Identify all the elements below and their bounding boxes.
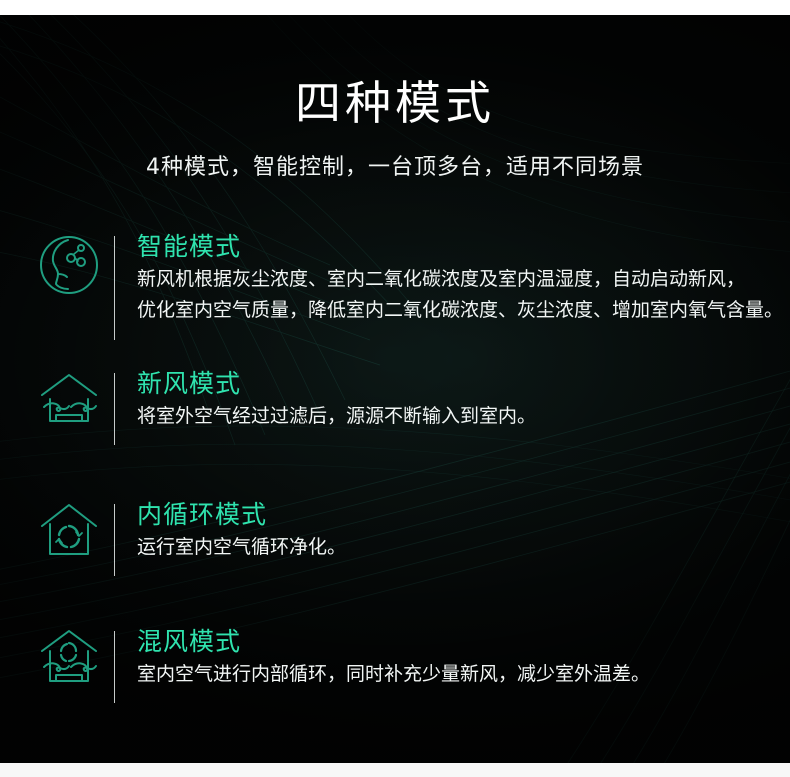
feature-divider [114, 504, 115, 576]
feature-title: 内循环模式 [137, 498, 785, 532]
feature-row-fresh-air: 新风模式 将室外空气经过过滤后，源源不断输入到室内。 [30, 367, 785, 462]
bottom-white-strip [0, 763, 790, 777]
ai-head-circle-icon [30, 230, 108, 296]
feature-title: 新风模式 [137, 367, 785, 401]
page-root: 四种模式 4种模式，智能控制，一台顶多台，适用不同场景 智能模式 新风机根据灰 [0, 0, 790, 777]
feature-divider [114, 631, 115, 703]
feature-title: 智能模式 [137, 230, 785, 264]
top-white-strip [0, 0, 790, 15]
dark-stage: 四种模式 4种模式，智能控制，一台顶多台，适用不同场景 智能模式 新风机根据灰 [0, 15, 790, 763]
feature-divider [114, 373, 115, 445]
feature-row-recirculate: 内循环模式 运行室内空气循环净化。 [30, 498, 785, 593]
feature-line: 室内空气进行内部循环，同时补充少量新风，减少室外温差。 [137, 659, 785, 690]
page-subtitle: 4种模式，智能控制，一台顶多台，适用不同场景 [0, 153, 790, 183]
house-recirculate-icon [30, 498, 108, 560]
feature-body: 智能模式 新风机根据灰尘浓度、室内二氧化碳浓度及室内温湿度，自动启动新风， 优化… [115, 230, 785, 326]
house-fresh-air-icon [30, 367, 108, 429]
feature-line: 将室外空气经过过滤后，源源不断输入到室内。 [137, 401, 785, 432]
feature-body: 内循环模式 运行室内空气循环净化。 [115, 498, 785, 563]
feature-row-intelligent: 智能模式 新风机根据灰尘浓度、室内二氧化碳浓度及室内温湿度，自动启动新风， 优化… [30, 230, 785, 360]
feature-body: 新风模式 将室外空气经过过滤后，源源不断输入到室内。 [115, 367, 785, 432]
feature-line: 运行室内空气循环净化。 [137, 532, 785, 563]
feature-row-mixed-air: 混风模式 室内空气进行内部循环，同时补充少量新风，减少室外温差。 [30, 625, 785, 720]
feature-line: 优化室内空气质量，降低室内二氧化碳浓度、灰尘浓度、增加室内氧气含量。 [137, 295, 785, 326]
feature-body: 混风模式 室内空气进行内部循环，同时补充少量新风，减少室外温差。 [115, 625, 785, 690]
feature-divider [114, 236, 115, 340]
feature-line: 新风机根据灰尘浓度、室内二氧化碳浓度及室内温湿度，自动启动新风， [137, 264, 785, 295]
house-mixed-air-icon [30, 625, 108, 687]
feature-title: 混风模式 [137, 625, 785, 659]
page-title: 四种模式 [0, 77, 790, 129]
